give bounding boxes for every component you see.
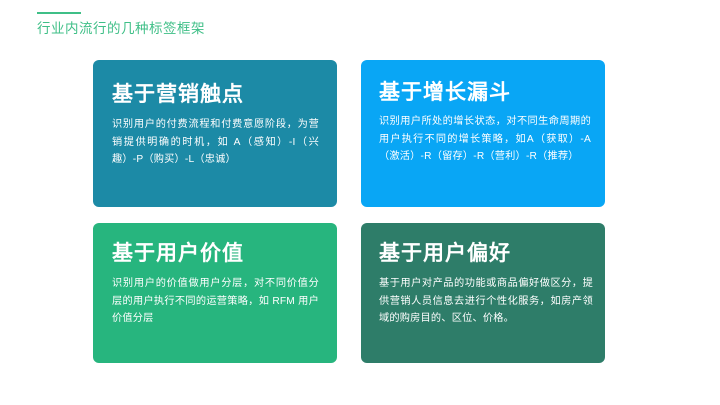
card-growth-funnel-body: 识别用户所处的增长状态，对不同生命周期的用户执行不同的增长策略，如A（获取）-A… xyxy=(379,113,591,166)
card-user-value-heading: 基于用户价值 xyxy=(112,241,244,267)
card-user-value: 基于用户价值 识别用户的价值做用户分层，对不同价值分层的用户执行不同的运营策略，… xyxy=(93,223,337,363)
framework-card-grid: 基于营销触点 识别用户的付费流程和付费意愿阶段，为营销提供明确的时机，如 A（感… xyxy=(93,60,605,363)
card-user-preference-heading: 基于用户偏好 xyxy=(379,241,511,267)
card-growth-funnel: 基于增长漏斗 识别用户所处的增长状态，对不同生命周期的用户执行不同的增长策略，如… xyxy=(361,60,605,207)
header-accent-rule xyxy=(37,12,81,14)
slide-header: 行业内流行的几种标签框架 xyxy=(37,12,437,37)
card-marketing-touchpoint: 基于营销触点 识别用户的付费流程和付费意愿阶段，为营销提供明确的时机，如 A（感… xyxy=(93,60,337,207)
card-user-preference-body: 基于用户对产品的功能或商品偏好做区分，提供营销人员信息去进行个性化服务，如房产领… xyxy=(379,275,593,328)
card-marketing-touchpoint-body: 识别用户的付费流程和付费意愿阶段，为营销提供明确的时机，如 A（感知）-I（兴趣… xyxy=(112,116,319,169)
card-growth-funnel-heading: 基于增长漏斗 xyxy=(379,80,511,106)
page-title: 行业内流行的几种标签框架 xyxy=(37,21,437,37)
card-marketing-touchpoint-heading: 基于营销触点 xyxy=(112,82,244,108)
card-user-preference: 基于用户偏好 基于用户对产品的功能或商品偏好做区分，提供营销人员信息去进行个性化… xyxy=(361,223,605,363)
card-user-value-body: 识别用户的价值做用户分层，对不同价值分层的用户执行不同的运营策略，如 RFM 用… xyxy=(112,275,319,328)
